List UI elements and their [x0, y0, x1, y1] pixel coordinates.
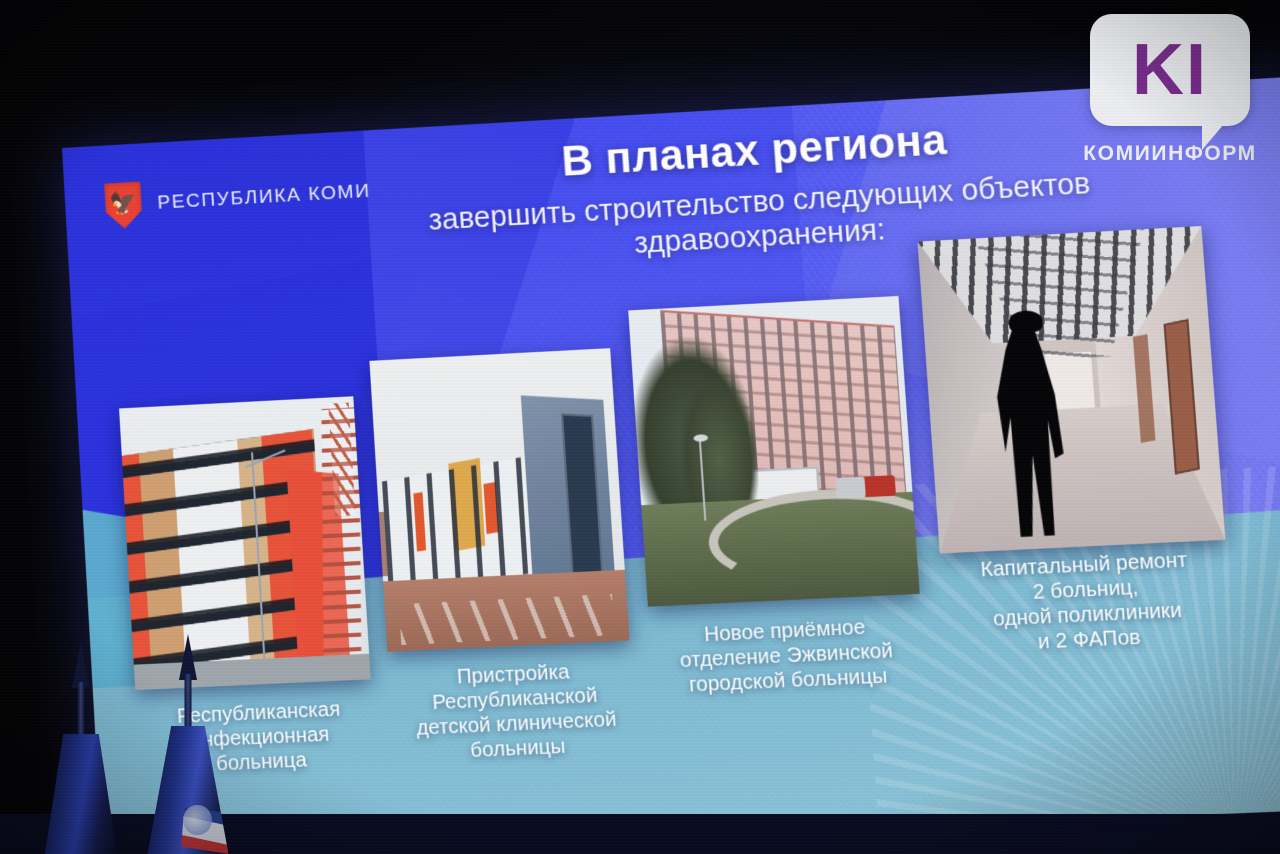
- card-capital-repair: [917, 226, 1225, 553]
- card-childrens-hospital-annex: [369, 348, 629, 652]
- photo-childrens-clinical-hospital-annex: [369, 348, 629, 652]
- caption-ezhva-hospital: Новое приёмное отделение Эжвинской город…: [629, 612, 946, 701]
- flag-left-cloth: [44, 734, 118, 854]
- watermark-name: КОМИИНФОРМ: [1082, 142, 1258, 166]
- photo-capital-repair-corridor: [917, 226, 1225, 553]
- caption-childrens-hospital-annex: Пристройка Республиканской детской клини…: [364, 656, 668, 768]
- caption-capital-repair: Капитальный ремонт 2 больниц, одной поли…: [919, 545, 1254, 660]
- card-infectious-hospital: [119, 396, 371, 690]
- speech-bubble-icon: KI: [1090, 14, 1250, 126]
- watermark-mark: KI: [1090, 34, 1250, 106]
- slide-surface: 🦅 РЕСПУБЛИКА КОМИ В планах региона завер…: [62, 76, 1280, 854]
- kominform-watermark: KI КОМИИНФОРМ: [1082, 14, 1258, 166]
- flag-right-cloth: [146, 726, 230, 854]
- photo-ezhva-city-hospital: [628, 296, 920, 607]
- photo-card-row: Республиканская инфекционная больница: [62, 76, 1280, 854]
- flag-right-emblem-disc: [183, 805, 212, 835]
- photo3-car-silver: [835, 477, 866, 499]
- photo4-hard-hat: [1008, 310, 1044, 334]
- flag-left: [44, 682, 118, 854]
- auditorium-scene: 🦅 РЕСПУБЛИКА КОМИ В планах региона завер…: [0, 0, 1280, 854]
- photo-republican-infectious-hospital: [119, 396, 371, 690]
- presentation-screen: 🦅 РЕСПУБЛИКА КОМИ В планах региона завер…: [62, 76, 1280, 854]
- photo3-car-red: [862, 475, 896, 497]
- card-ezhva-hospital: [628, 296, 920, 607]
- flag-right: [146, 674, 230, 854]
